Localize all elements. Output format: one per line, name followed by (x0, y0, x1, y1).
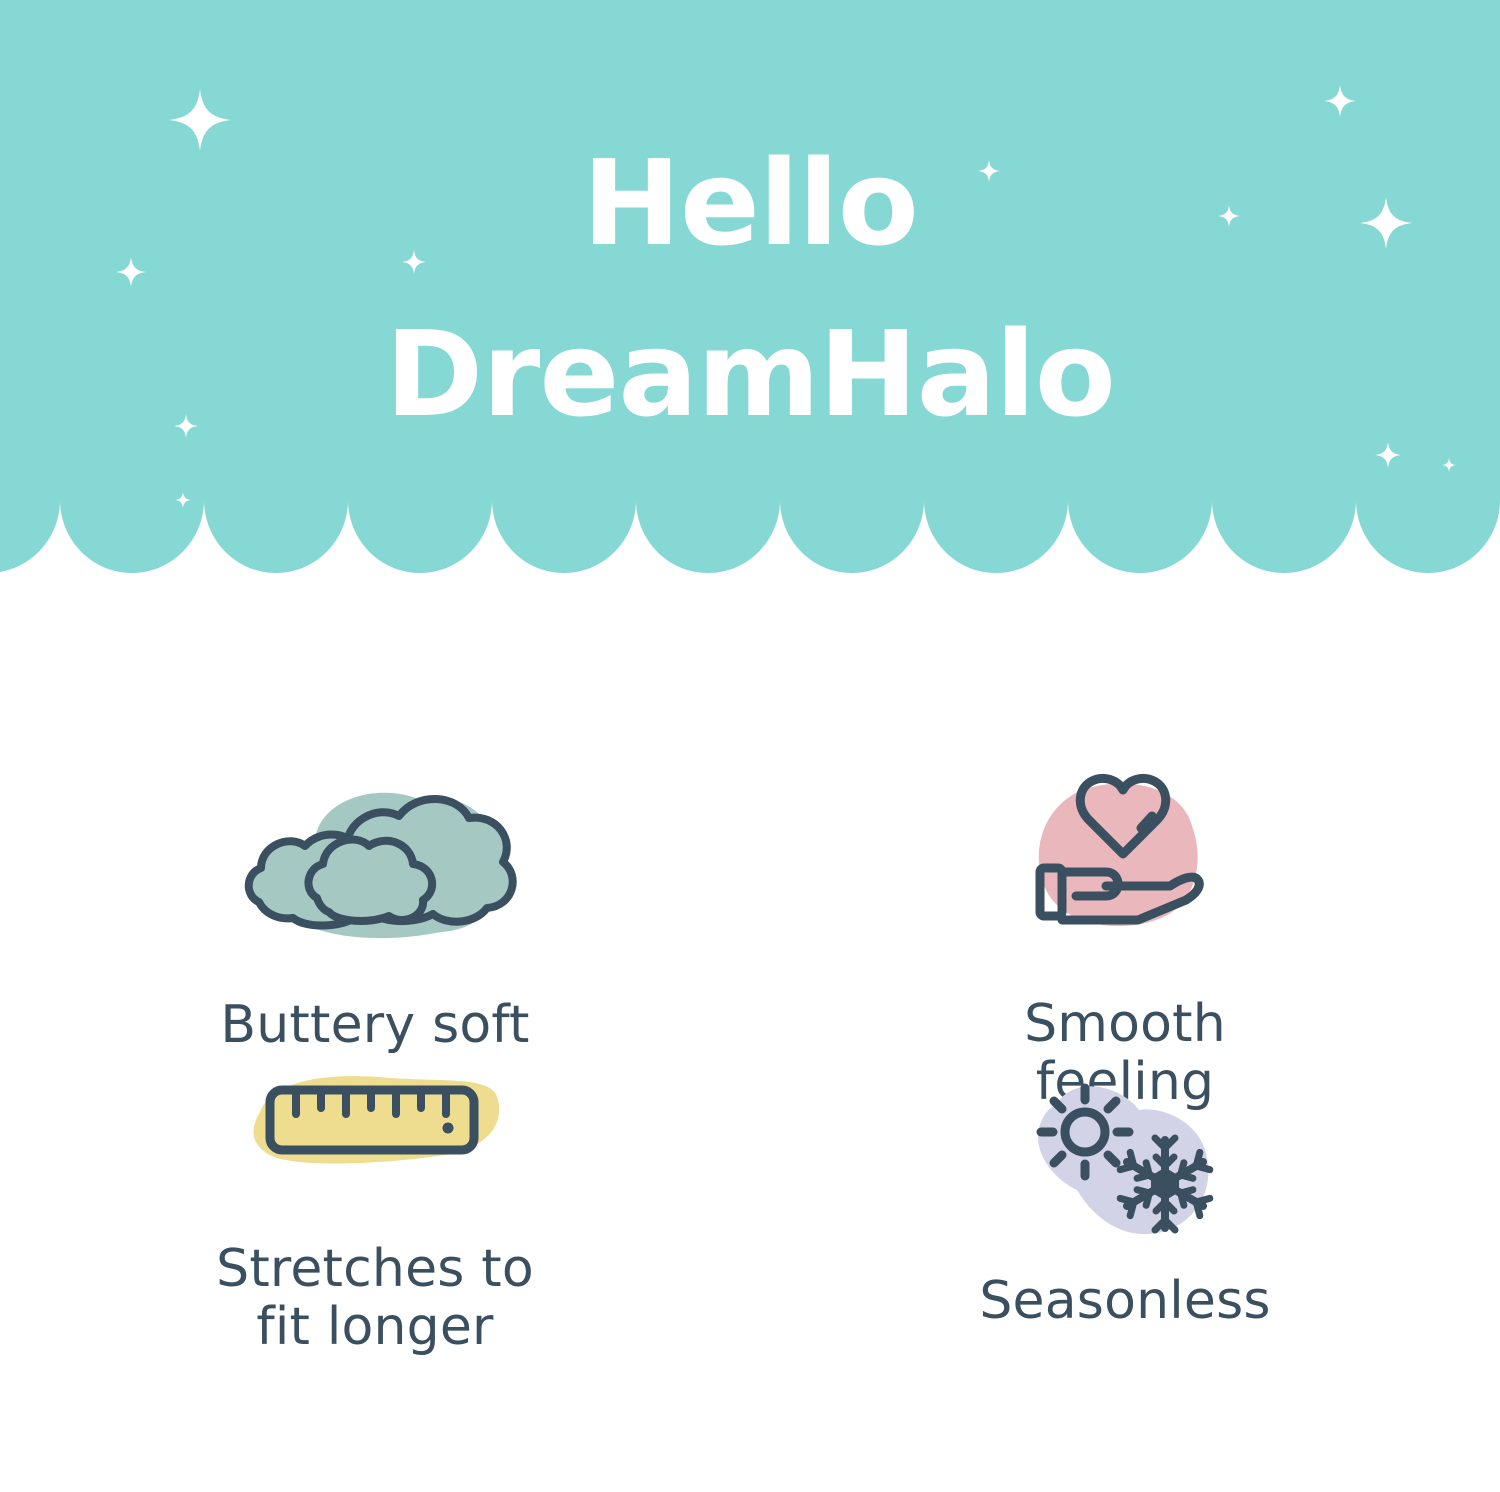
cloud-icon (225, 770, 525, 960)
feature-grid: Buttery soft Smooth feeling (0, 640, 1500, 1492)
feature-label-stretches-to-fit-longer: Stretches to fit longer (216, 1240, 534, 1356)
heart-in-hand-icon (1010, 768, 1240, 953)
feature-label-seasonless: Seasonless (979, 1272, 1270, 1330)
sun-snowflake-icon (1015, 1066, 1235, 1246)
header-banner: Hello DreamHalo (0, 0, 1500, 580)
banner-background (0, 0, 1500, 580)
feature-buttery-soft[interactable]: Buttery soft (0, 640, 750, 1054)
promo-page: Hello DreamHalo Buttery soft (0, 0, 1500, 1492)
feature-label-buttery-soft: Buttery soft (220, 996, 529, 1054)
banner-teal-shape (0, 0, 1500, 580)
feature-smooth-feeling[interactable]: Smooth feeling (750, 640, 1500, 1111)
feature-seasonless[interactable]: Seasonless (750, 1066, 1500, 1330)
ruler-icon (240, 1066, 510, 1196)
feature-stretches-to-fit-longer[interactable]: Stretches to fit longer (0, 1066, 750, 1356)
